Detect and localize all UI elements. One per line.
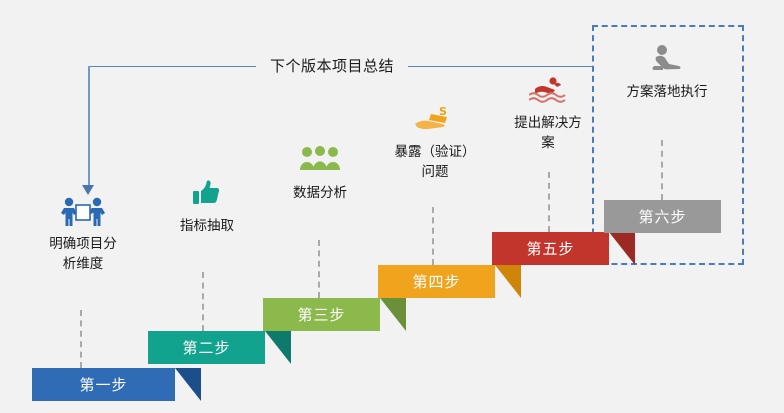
step-bar-label: 第五步 (526, 238, 574, 259)
step-bar-wedge (380, 298, 406, 331)
two-people-board-icon (28, 196, 138, 230)
node-caption: 明确项目分 析维度 (28, 234, 138, 274)
leader-line-step-1 (80, 310, 82, 368)
leader-line-step-6 (661, 140, 663, 200)
node-caption: 指标抽取 (155, 216, 259, 236)
step-bar-label: 第三步 (297, 304, 345, 325)
leader-line-step-2 (202, 272, 204, 331)
seated-person-icon (608, 44, 726, 78)
connector-line-vertical (88, 66, 90, 190)
thumbs-up-icon (155, 178, 259, 212)
step-bar-label: 第六步 (638, 206, 686, 227)
node-step-3: 数据分析 (268, 145, 372, 203)
connector-line-left (88, 66, 256, 67)
step-bar-body: 第一步 (32, 368, 175, 401)
node-step-2: 指标抽取 (155, 178, 259, 236)
leader-line-step-3 (318, 240, 320, 298)
node-caption: 暴露（验证） 问题 (380, 142, 490, 182)
hand-money-icon: S (380, 104, 490, 138)
node-step-4: S 暴露（验证） 问题 (380, 104, 490, 182)
step-bar-label: 第一步 (79, 374, 127, 395)
node-step-1: 明确项目分 析维度 (28, 196, 138, 274)
leader-line-step-5 (548, 172, 550, 232)
step-bar-body: 第五步 (492, 232, 609, 265)
step-bar-wedge (495, 265, 521, 298)
node-step-5: 提出解决方 案 (498, 75, 598, 153)
node-caption: 方案落地执行 (608, 82, 726, 102)
step-bar-body: 第四步 (378, 265, 495, 298)
node-caption: 提出解决方 案 (498, 113, 598, 153)
connector-arrowhead-icon (82, 185, 94, 195)
node-caption: 数据分析 (268, 183, 372, 203)
connector-line-right (408, 66, 594, 67)
summary-title: 下个版本项目总结 (250, 55, 414, 76)
step-bar-body: 第三步 (263, 298, 380, 331)
step-bar-wedge (609, 232, 635, 265)
step-bar-body: 第二步 (148, 331, 265, 364)
staircase-process-diagram: 下个版本项目总结 明确项目分 析维度 指标抽取 (0, 0, 784, 413)
step-bar-body: 第六步 (604, 200, 721, 233)
leader-line-step-4 (432, 207, 434, 265)
swimmer-icon (498, 75, 598, 109)
step-bar-wedge (265, 331, 291, 364)
step-bar-label: 第四步 (412, 271, 460, 292)
node-step-6: 方案落地执行 (608, 44, 726, 102)
step-bar-wedge (175, 368, 201, 401)
people-group-icon (268, 145, 372, 179)
step-bar-label: 第二步 (182, 337, 230, 358)
